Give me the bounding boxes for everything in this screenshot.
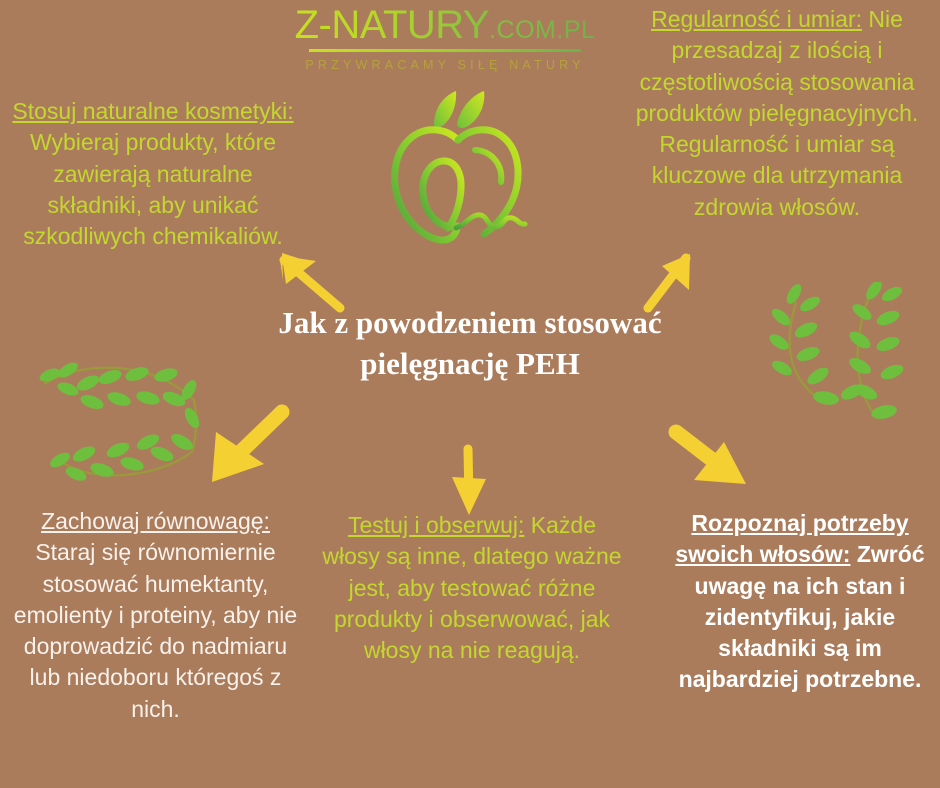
tip-regularnosc-i-umiar: Regularność i umiar: Nie przesadzaj z il… [622,4,932,223]
logo-tagline: PRZYWRACAMY SIŁĘ NATURY [280,58,610,72]
apple-heart-leaf-logo-icon [362,88,542,258]
tip-rozpoznaj-potrzeby-wlosow: Rozpoznaj potrzeby swoich włosów: Zwróć … [664,508,936,696]
tip-lead-label: Regularność i umiar: [651,6,862,32]
leaf-vine-left-icon [22,342,212,497]
tip-body-text: Wybieraj produkty, które zawierają natur… [23,129,282,249]
tip-body-text: Staraj się równomiernie stosować humekta… [14,539,297,721]
tip-stosuj-naturalne-kosmetyki: Stosuj naturalne kosmetyki: Wybieraj pro… [8,96,298,252]
arrow-down-left-icon [188,402,292,501]
logo-wordmark: Z-NATURY.COM.PL [280,4,610,46]
tip-zachowaj-rownowage: Zachowaj równowagę: Staraj się równomier… [8,506,303,725]
tip-lead-label: Stosuj naturalne kosmetyki: [12,98,293,124]
tip-testuj-i-obserwuj: Testuj i obserwuj: Każde włosy są inne, … [322,510,622,666]
arrow-down-right-icon [666,424,770,513]
tip-lead-label: Zachowaj równowagę: [41,508,270,534]
infographic-canvas: Z-NATURY.COM.PL PRZYWRACAMY SIŁĘ NATURY [0,0,940,788]
logo-divider [309,49,581,52]
page-title: Jak z powodzeniem stosować pielęgnację P… [275,303,665,385]
tip-body-text: Nie przesadzaj z ilością i częstotliwośc… [636,6,919,220]
leaf-vine-right-icon [766,282,936,467]
logo-wordmark-main: Z-NATURY [295,3,490,47]
tip-lead-label: Testuj i obserwuj: [348,512,524,538]
logo-wordmark-suffix: .COM.PL [489,16,595,44]
brand-logo: Z-NATURY.COM.PL PRZYWRACAMY SIŁĘ NATURY [280,4,610,72]
